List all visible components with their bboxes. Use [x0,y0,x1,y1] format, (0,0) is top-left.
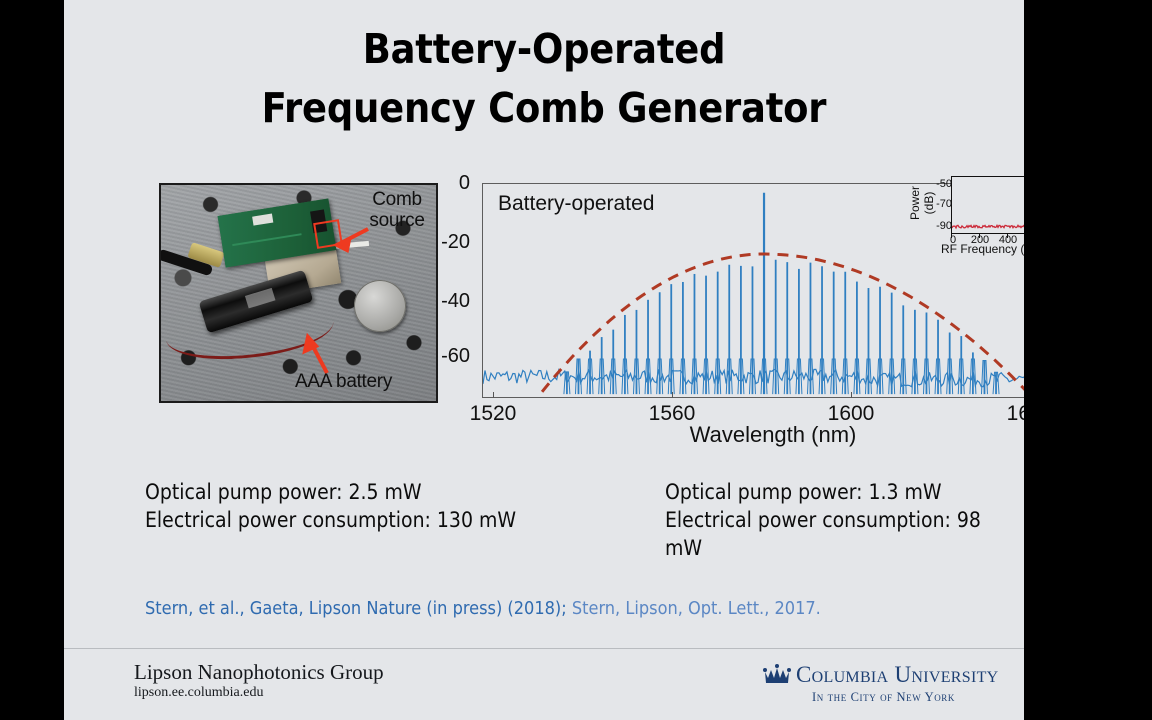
y-tick-0: 0 [428,172,470,195]
inset-y-tick-m50: -50 [922,178,952,190]
optical-spectrum-chart: 0 -20 -40 -60 Battery-operated 1520 1560… [454,170,1024,435]
spec-electrical-power-right: Electrical power consumption: 98 mW [665,506,1024,562]
specs-column-right: Optical pump power: 1.3 mW Electrical po… [665,478,1024,562]
inset-y-tick-m90: -90 [922,220,952,232]
spec-optical-pump-power-left: Optical pump power: 2.5 mW [145,478,516,506]
aaa-battery-photo-label: AAA battery [295,371,438,392]
inset-plot-area [951,176,1024,234]
title-line-2: Frequency Comb Generator [64,79,1024,138]
plot-series-label: Battery-operated [498,192,654,216]
y-tick-m60: -60 [428,345,470,368]
columbia-city-text: In the City of New York [812,690,955,705]
device-photo: Comb source AAA battery [159,183,438,403]
footer-website: lipson.ee.columbia.edu [134,684,384,702]
rf-spectrum-inset: Power (dB) -50 -70 -90 0 200 400 600 RF … [909,176,1024,254]
citation-part-1: Stern, et al., Gaeta, Lipson Nature (in … [145,598,572,619]
citation: Stern, et al., Gaeta, Lipson Nature (in … [145,598,821,619]
spec-electrical-power-left: Electrical power consumption: 130 mW [145,506,516,534]
footer-divider [64,648,1024,649]
inset-x-axis-label: RF Frequency (MHz) [927,242,1024,256]
spec-optical-pump-power-right: Optical pump power: 1.3 mW [665,478,1024,506]
y-tick-m20: -20 [428,231,470,254]
presentation-slide: Battery-Operated Frequency Comb Generato… [64,0,1024,720]
comb-source-photo-label: Comb source [354,189,438,231]
screen: Battery-Operated Frequency Comb Generato… [0,0,1152,720]
specs-column-left: Optical pump power: 2.5 mW Electrical po… [145,478,516,534]
footer-group-name: Lipson Nanophotonics Group [134,660,384,684]
inset-rf-trace [952,177,1024,232]
title-line-1: Battery-Operated [363,25,726,73]
citation-part-2: Stern, Lipson, Opt. Lett., 2017. [572,598,821,619]
crown-icon [762,664,792,686]
inset-y-tick-m70: -70 [922,198,952,210]
page-title: Battery-Operated Frequency Comb Generato… [64,20,1024,138]
columbia-university-text: Columbia University [796,662,999,688]
x-axis-label: Wavelength (nm) [482,422,1024,448]
footer-group-info: Lipson Nanophotonics Group lipson.ee.col… [134,660,384,702]
columbia-logo: Columbia University In the City of New Y… [754,662,1024,710]
y-tick-m40: -40 [428,290,470,313]
